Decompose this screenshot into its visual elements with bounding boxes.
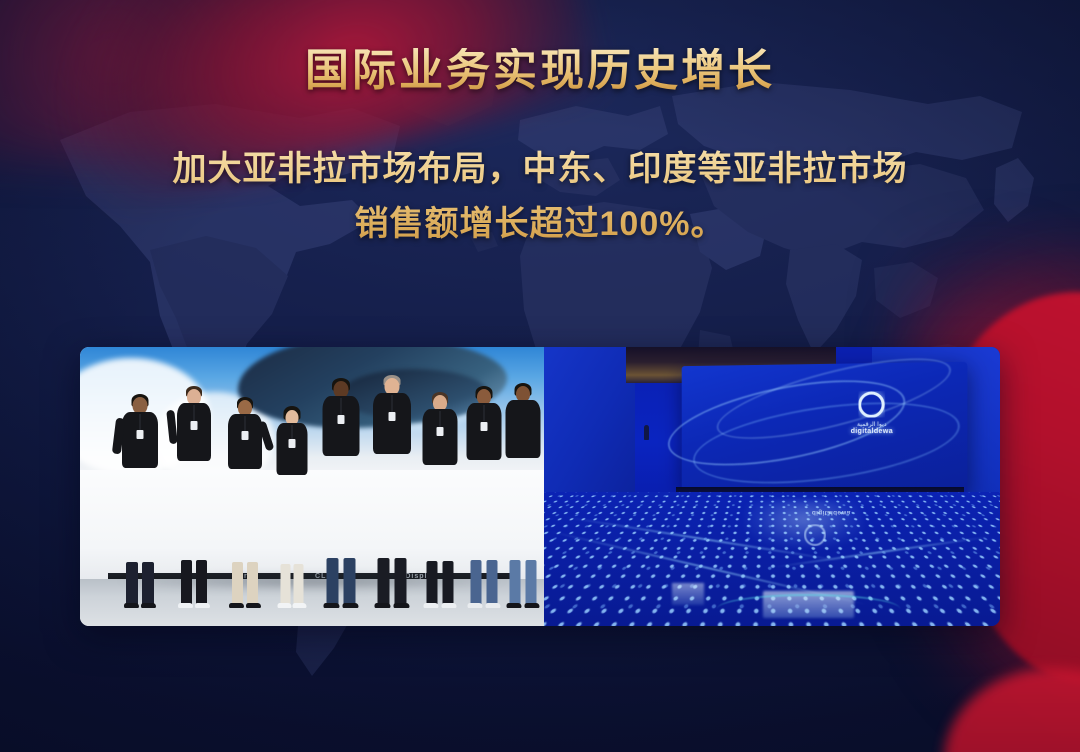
dewa-ring-logo-icon xyxy=(859,391,886,417)
dewa-brand-block: ديوا الرقمية digitaldewa xyxy=(837,391,907,435)
visitor-silhouette xyxy=(644,425,649,440)
poster-root: 国际业务实现历史增长 加大亚非拉市场布局，中东、印度等亚非拉市场 销售额增长超过… xyxy=(0,0,1080,752)
person-figure xyxy=(368,375,417,607)
subtitle-line-2: 销售额增长超过100%。 xyxy=(0,197,1080,252)
person-figure xyxy=(416,392,462,607)
led-floor: digitaldewa xyxy=(544,492,1000,626)
floor-reflection-glow xyxy=(745,500,864,548)
teal-light-curve xyxy=(717,594,899,623)
dewa-brand-latin: digitaldewa xyxy=(837,427,907,434)
photo-led-hall: ديوا الرقمية digitaldewa digitaldewa xyxy=(544,347,1000,626)
page-title: 国际业务实现历史增长 xyxy=(0,48,1080,94)
floor-reflection-ring-icon xyxy=(804,524,826,546)
person-figure xyxy=(270,406,314,607)
led-screen: ديوا الرقمية digitaldewa xyxy=(682,361,968,491)
person-figure xyxy=(222,397,268,606)
person-figure xyxy=(317,378,366,607)
subtitle-block: 加大亚非拉市场布局，中东、印度等亚非拉市场 销售额增长超过100%。 xyxy=(0,142,1080,252)
booth-reflection xyxy=(672,583,704,604)
dewa-brand-arabic: ديوا الرقمية xyxy=(837,420,907,427)
person-figure xyxy=(117,394,163,606)
subtitle-line-1: 加大亚非拉市场布局，中东、印度等亚非拉市场 xyxy=(0,142,1080,197)
person-figure xyxy=(500,383,544,606)
floor-reflection-brand: digitaldewa xyxy=(781,509,881,516)
person-figure xyxy=(170,386,216,606)
photo-strip: Car CLED Display xyxy=(80,347,1000,626)
photo-team-group: Car CLED Display xyxy=(80,347,544,626)
